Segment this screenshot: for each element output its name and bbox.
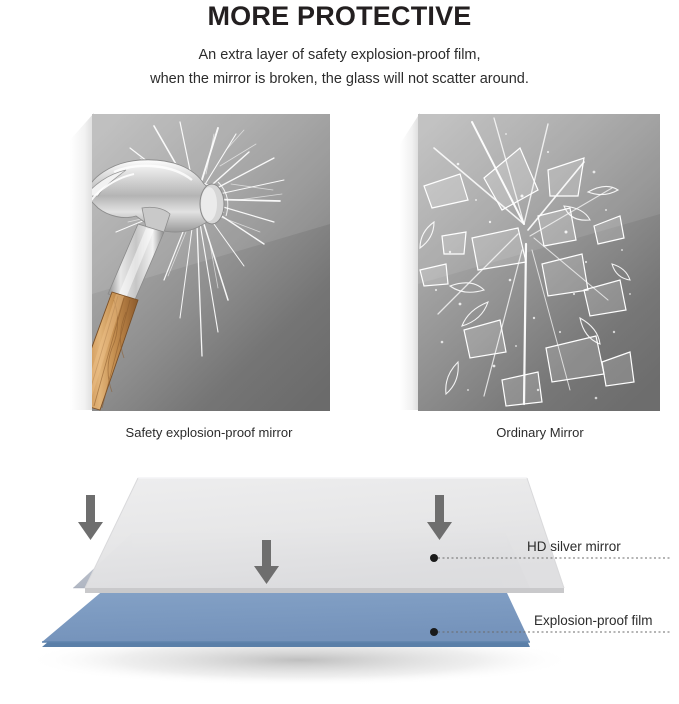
- leader-dot-hd-silver-mirror: [430, 554, 438, 562]
- comparison-panel-ordinary-mirror: [398, 104, 660, 417]
- subtitle: An extra layer of safety explosion-proof…: [0, 31, 679, 91]
- leader-dot-explosion-proof-film: [430, 628, 438, 636]
- page-title: MORE PROTECTIVE: [0, 0, 679, 31]
- layer-glass: [85, 478, 564, 593]
- caption-ordinary-mirror: Ordinary Mirror: [390, 424, 679, 442]
- label-explosion-proof-film: Explosion-proof film: [534, 612, 653, 630]
- layer-diagram: HD silver mirror Explosion-proof film: [0, 452, 679, 699]
- ordinary-mirror-image: [398, 104, 660, 417]
- caption-safety-mirror: Safety explosion-proof mirror: [59, 424, 359, 442]
- layer-stack-illustration: [0, 452, 679, 699]
- label-hd-silver-mirror: HD silver mirror: [527, 538, 621, 556]
- pressure-arrow-left: [78, 495, 103, 540]
- comparison-panel-safety-mirror: [68, 104, 330, 417]
- header: MORE PROTECTIVE An extra layer of safety…: [0, 0, 679, 91]
- safety-mirror-image: [68, 104, 330, 417]
- subtitle-line-2: when the mirror is broken, the glass wil…: [0, 67, 679, 91]
- subtitle-line-1: An extra layer of safety explosion-proof…: [0, 43, 679, 67]
